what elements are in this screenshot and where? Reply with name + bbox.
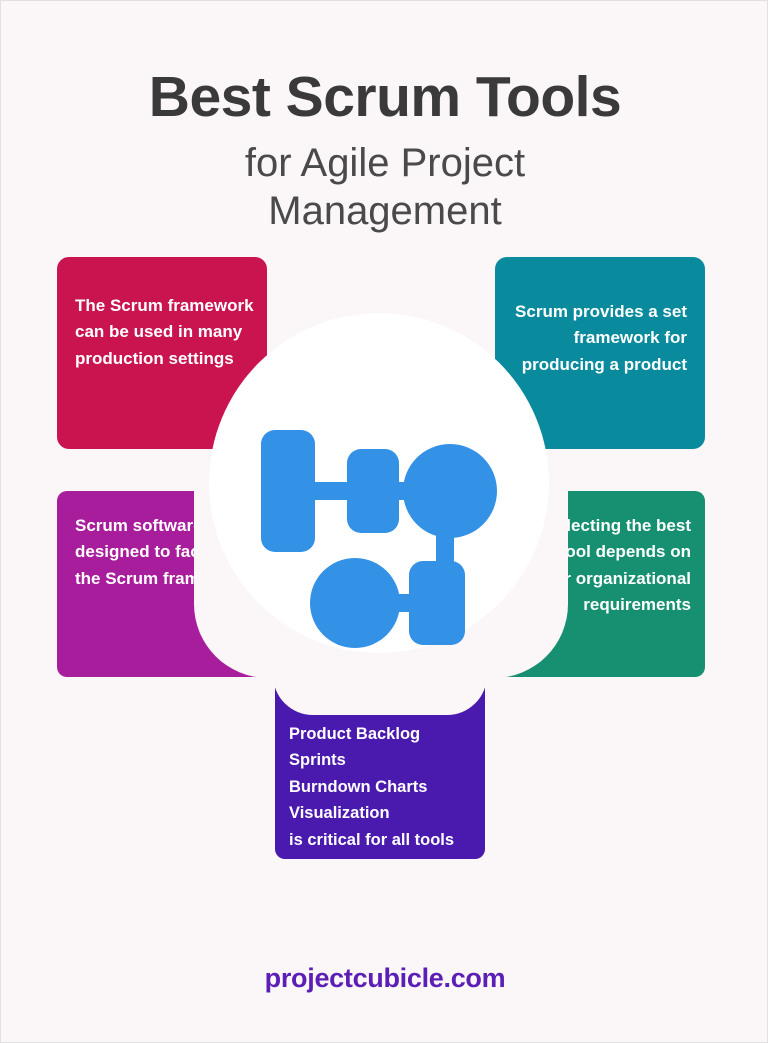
- infographic-poster: Best Scrum Tools for Agile Project Manag…: [0, 0, 768, 1043]
- title-block: Best Scrum Tools for Agile Project Manag…: [1, 67, 768, 236]
- page-title: Best Scrum Tools: [1, 67, 768, 129]
- footer-website: projectcubicle.com: [1, 963, 768, 994]
- info-card-text: Product Backlog Sprints Burndown Charts …: [289, 721, 485, 853]
- page-subtitle: for Agile Project Management: [1, 139, 768, 237]
- info-card-text: Scrum provides a set framework for produ…: [495, 299, 687, 378]
- workflow-nodes-icon: [251, 416, 507, 652]
- info-card-bottom-center: Product Backlog Sprints Burndown Charts …: [275, 677, 485, 859]
- info-card-text: The Scrum framework can be used in many …: [75, 293, 267, 372]
